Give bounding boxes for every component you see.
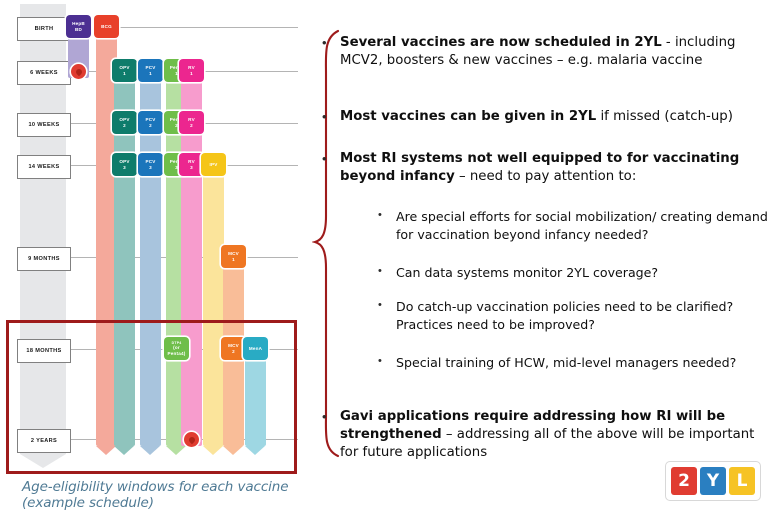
bullet-list: •Several vaccines are now scheduled in 2… xyxy=(322,24,768,464)
bullet-text: Most vaccines can be given in 2YL if mis… xyxy=(340,108,733,126)
bullet-text: Are special efforts for social mobilizat… xyxy=(396,208,768,245)
bullet-text-rest: Do catch-up vaccination policies need to… xyxy=(396,299,733,332)
bullet-text: Most RI systems not well equipped to for… xyxy=(340,150,768,186)
bullet-marker: • xyxy=(322,34,340,52)
dose-number: 1 xyxy=(232,257,235,263)
bullet-item: •Gavi applications require addressing ho… xyxy=(322,408,768,462)
bullet-text: Special training of HCW, mid-level manag… xyxy=(396,354,736,372)
dose-label: BCG xyxy=(101,24,112,30)
bullet-item: •Do catch-up vaccination policies need t… xyxy=(378,298,768,335)
dose-chip-pcv2: PCV2 xyxy=(138,111,163,134)
dose-label: IPV xyxy=(209,162,217,168)
dose-chip-pcv1: PCV1 xyxy=(138,59,163,82)
bullet-text: Gavi applications require addressing how… xyxy=(340,408,768,462)
bullet-text: Several vaccines are now scheduled in 2Y… xyxy=(340,34,768,70)
logo-block-2: 2 xyxy=(671,467,697,495)
logo-block-y: Y xyxy=(700,467,726,495)
dose-chip-hepbbd: HepBBD xyxy=(66,15,91,38)
bullet-text-rest: Are special efforts for social mobilizat… xyxy=(396,209,768,242)
dose-number: 1 xyxy=(123,71,126,77)
bullet-text: Do catch-up vaccination policies need to… xyxy=(396,298,768,335)
dose-chip-opv3: OPV3 xyxy=(112,153,137,176)
bullet-marker: • xyxy=(378,298,396,313)
bullet-item: •Most vaccines can be given in 2YL if mi… xyxy=(322,108,768,126)
bullet-marker: • xyxy=(322,108,340,126)
bullet-text-bold: Several vaccines are now scheduled in 2Y… xyxy=(340,35,662,50)
dose-chip-pcv3: PCV3 xyxy=(138,153,163,176)
dose-number: 2 xyxy=(123,123,126,129)
slide-canvas: BIRTH6 WEEKS10 WEEKS14 WEEKS9 MONTHS18 M… xyxy=(0,0,768,509)
bullet-marker: • xyxy=(378,208,396,223)
logo-block-l: L xyxy=(729,467,755,495)
highlight-region-2yl xyxy=(6,320,297,474)
age-label-10-weeks: 10 WEEKS xyxy=(17,113,71,137)
bullet-item: •Several vaccines are now scheduled in 2… xyxy=(322,34,768,70)
dose-number: 1 xyxy=(149,71,152,77)
bullet-marker: • xyxy=(378,354,396,369)
dose-number: 2 xyxy=(175,123,178,129)
dose-number: 1 xyxy=(190,71,193,77)
dose-chip-bcg: BCG xyxy=(94,15,119,38)
2yl-logo: 2YL xyxy=(665,461,761,501)
age-label-14-weeks: 14 WEEKS xyxy=(17,155,71,179)
dose-number: 3 xyxy=(149,165,152,171)
bullet-text: Can data systems monitor 2YL coverage? xyxy=(396,264,658,282)
age-label-9-months: 9 MONTHS xyxy=(17,247,71,271)
bullet-item: •Most RI systems not well equipped to fo… xyxy=(322,150,768,186)
bullet-text-rest: Can data systems monitor 2YL coverage? xyxy=(396,265,658,280)
dose-chip-mcv1: MCV1 xyxy=(221,245,246,268)
dose-chip-opv1: OPV1 xyxy=(112,59,137,82)
bullet-text-rest: Special training of HCW, mid-level manag… xyxy=(396,355,736,370)
dose-chip-rv2: RV2 xyxy=(179,111,204,134)
dose-number: BD xyxy=(75,27,82,33)
bullet-marker: • xyxy=(378,264,396,279)
dose-number: 3 xyxy=(123,165,126,171)
age-label-birth: BIRTH xyxy=(17,17,71,41)
dose-number: 1 xyxy=(175,71,178,77)
vaccine-schedule-chart: BIRTH6 WEEKS10 WEEKS14 WEEKS9 MONTHS18 M… xyxy=(0,0,300,475)
dose-chip-opv2: OPV2 xyxy=(112,111,137,134)
bullet-item: •Are special efforts for social mobiliza… xyxy=(378,208,768,245)
bullet-marker: • xyxy=(322,408,340,426)
dose-chip-rv1: RV1 xyxy=(179,59,204,82)
dose-number: 2 xyxy=(149,123,152,129)
dose-number: 3 xyxy=(175,165,178,171)
age-label-6-weeks: 6 WEEKS xyxy=(17,61,71,85)
bullet-text-rest: if missed (catch-up) xyxy=(596,109,733,124)
bullet-item: •Special training of HCW, mid-level mana… xyxy=(378,354,768,372)
bullet-item: •Can data systems monitor 2YL coverage? xyxy=(378,264,768,282)
dose-number: 2 xyxy=(190,123,193,129)
bullet-marker: • xyxy=(322,150,340,168)
vaccination-drop-icon xyxy=(71,64,86,79)
dose-chip-ipv: IPV xyxy=(201,153,226,176)
drop-inner xyxy=(74,67,82,75)
chart-caption: Age-eligibility windows for each vaccine… xyxy=(22,479,302,511)
bullet-text-rest: – need to pay attention to: xyxy=(455,169,637,184)
dose-number: 3 xyxy=(190,165,193,171)
bullet-text-bold: Most vaccines can be given in 2YL xyxy=(340,109,596,124)
